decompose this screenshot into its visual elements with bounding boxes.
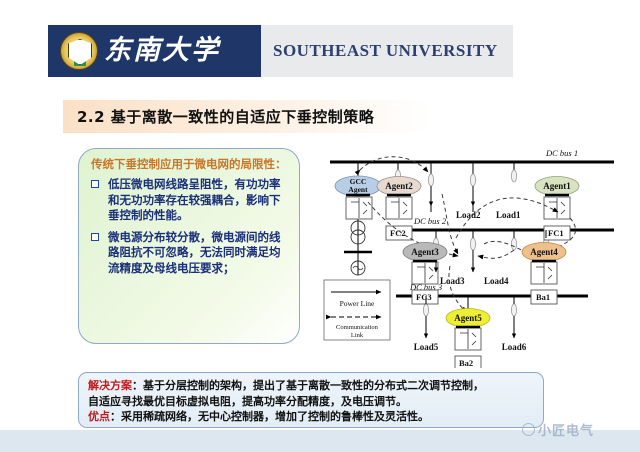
agent-4: Agent4 xyxy=(522,243,566,262)
limitations-list: 低压微电网线路呈阻性，有功功率和无功功率存在较强耦合，影响下垂控制的性能。 微电… xyxy=(91,177,289,276)
dc-bus-2-label: DC bus 2 xyxy=(413,216,447,226)
legend-comm-label-2: Link xyxy=(351,332,364,339)
watermark-text: 小匠电气 xyxy=(538,420,594,439)
agent-3: Agent3 xyxy=(403,243,447,262)
advantage-line: 优点：采用稀疏网络，无中心控制器，增加了控制的鲁棒性及灵活性。 xyxy=(88,409,535,425)
source-fc3-label: FC3 xyxy=(416,292,432,302)
solution-text-1: 基于分层控制的架构，提出了基于离散一致性的分布式二次调节控制， xyxy=(143,379,484,392)
load-Load5-label: Load5 xyxy=(414,342,439,352)
agent-2: Agent2 xyxy=(377,177,421,196)
source-fc1-label: FC1 xyxy=(548,228,564,238)
load-Load3-label: Load3 xyxy=(440,276,465,286)
limitation-text: 微电源分布较分散，微电源间的线路阻抗不可忽略，无法同时满足均流精度及母线电压要求… xyxy=(108,230,281,275)
university-name-cn: 东南大学 xyxy=(104,31,220,71)
source-ba1-label: Ba1 xyxy=(536,292,550,302)
advantage-label: 优点 xyxy=(88,410,110,423)
solution-line-2: 自适应寻找最优目标虚拟电阻，提高功率分配精度，及电压调节。 xyxy=(88,394,535,410)
diagram-legend: Power Line Communication Link xyxy=(324,280,390,340)
university-name-en: SOUTHEAST UNIVERSITY xyxy=(273,25,498,77)
limitations-heading: 传统下垂控制应用于微电网的局限性： xyxy=(91,157,289,172)
limitation-text: 低压微电网线路呈阻性，有功功率和无功功率存在较强耦合，影响下垂控制的性能。 xyxy=(108,177,281,222)
microgrid-architecture-diagram: DC bus 1 DC bus 2 DC bus 3 xyxy=(318,140,636,368)
solution-panel: 解决方案：基于分层控制的架构，提出了基于离散一致性的分布式二次调节控制， 自适应… xyxy=(78,372,544,428)
agent-gcc-label-2: Agent xyxy=(348,185,368,194)
agent-1: Agent1 xyxy=(535,177,579,196)
solution-text-2: 自适应寻找最优目标虚拟电阻，提高功率分配精度，及电压调节。 xyxy=(88,395,407,408)
load-Load4-label: Load4 xyxy=(484,276,509,286)
circle-logo-icon xyxy=(522,423,535,436)
agent-3-label: Agent3 xyxy=(411,247,439,257)
watermark: 小匠电气 xyxy=(522,417,634,441)
advantage-text: 采用稀疏网络，无中心控制器，增加了控制的鲁棒性及灵活性。 xyxy=(121,410,429,423)
source-ba2-label: Ba2 xyxy=(459,358,473,368)
load-Load6-label: Load6 xyxy=(502,342,527,352)
limitations-panel: 传统下垂控制应用于微电网的局限性： 低压微电网线路呈阻性，有功功率和无功功率存在… xyxy=(78,148,300,344)
source-fc2-label: FC2 xyxy=(390,228,406,238)
list-item: 微电源分布较分散，微电源间的线路阻抗不可忽略，无法同时满足均流精度及母线电压要求… xyxy=(91,230,289,277)
page-title: 2.2 基于离散一致性的自适应下垂控制策略 xyxy=(63,106,374,127)
legend-comm-label-1: Communication xyxy=(336,324,379,331)
agent-4-label: Agent4 xyxy=(530,247,558,257)
dc-bus-1: DC bus 1 xyxy=(330,148,614,162)
agent-5-label: Agent5 xyxy=(454,313,482,323)
seal-triangle-shape xyxy=(72,44,88,57)
seal-base-shape xyxy=(74,57,86,66)
solution-label: 解决方案 xyxy=(88,379,132,392)
square-bullet-icon xyxy=(91,233,99,241)
gcc-branch xyxy=(344,197,372,275)
solution-line-1: 解决方案：基于分层控制的架构，提出了基于离散一致性的分布式二次调节控制， xyxy=(88,378,535,394)
solution-colon-1: ： xyxy=(132,379,143,392)
legend-power-line-label: Power Line xyxy=(340,299,375,308)
solution-colon-2: ： xyxy=(110,410,121,423)
load-Load2-label: Load2 xyxy=(456,210,481,220)
slide-root: 东南大学 SOUTHEAST UNIVERSITY 2.2 基于离散一致性的自适… xyxy=(0,0,640,452)
load-Load1-label: Load1 xyxy=(496,210,521,220)
university-logo-block: 东南大学 xyxy=(48,25,261,77)
agent-5: Agent5 xyxy=(446,309,490,328)
list-item: 低压微电网线路呈阻性，有功功率和无功功率存在较强耦合，影响下垂控制的性能。 xyxy=(91,177,289,224)
agent-gcc: GCC Agent xyxy=(335,176,381,196)
dc-bus-1-label: DC bus 1 xyxy=(545,148,578,158)
slide-header: 东南大学 SOUTHEAST UNIVERSITY xyxy=(48,25,513,77)
agent-2-label: Agent2 xyxy=(385,181,413,191)
university-seal-icon xyxy=(60,32,98,70)
agent-1-label: Agent1 xyxy=(543,181,571,191)
section-title-bar: 2.2 基于离散一致性的自适应下垂控制策略 xyxy=(63,100,431,133)
square-bullet-icon xyxy=(91,180,99,188)
